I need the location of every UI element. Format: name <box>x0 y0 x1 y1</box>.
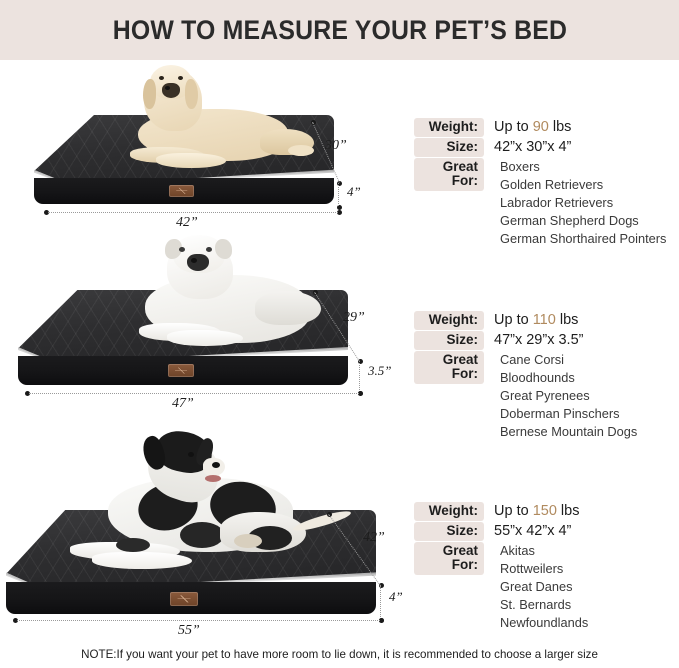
dim-label-height-1: 4” <box>347 184 361 200</box>
breed-item: Great Danes <box>500 580 573 593</box>
great-for-label-2: Great For: <box>414 351 484 384</box>
weight-label-3: Weight: <box>414 502 484 521</box>
breed-item: Labrador Retrievers <box>500 196 613 209</box>
dim-label-height-3: 4” <box>389 589 403 605</box>
size-label-3: Size: <box>414 522 484 541</box>
weight-label-1: Weight: <box>414 118 484 137</box>
weight-value-1: Up to 90 lbs <box>494 120 571 135</box>
breed-item: Doberman Pinschers <box>500 407 620 420</box>
breed-item: St. Bernards <box>500 598 571 611</box>
brand-logo-patch-3 <box>170 592 198 606</box>
breed-item: Bloodhounds <box>500 371 575 384</box>
dim-label-length-1: 42” <box>176 215 198 231</box>
weight-label-2: Weight: <box>414 311 484 330</box>
breed-item: Akitas <box>500 544 535 557</box>
dim-label-length-2: 47” <box>172 396 194 412</box>
size-value-1: 42”x 30”x 4” <box>494 140 571 155</box>
size-label-1: Size: <box>414 138 484 157</box>
weight-number-1: 90 <box>533 119 549 135</box>
dog-image-3 <box>20 430 340 590</box>
great-for-label-3: Great For: <box>414 542 484 575</box>
breed-item: Rottweilers <box>500 562 563 575</box>
dim-label-length-3: 55” <box>178 623 200 639</box>
page-header: HOW TO MEASURE YOUR PET’S BED <box>0 0 679 60</box>
breed-item: Great Pyrenees <box>500 389 590 402</box>
brand-logo-patch-1 <box>169 185 194 197</box>
dim-label-width-2: 29” <box>343 310 365 326</box>
size-value-2: 47”x 29”x 3.5” <box>494 333 583 348</box>
dim-label-height-2: 3.5” <box>368 363 391 379</box>
breed-item: Newfoundlands <box>500 616 588 629</box>
dim-label-width-3: 42” <box>363 530 385 546</box>
weight-number-3: 150 <box>533 503 557 519</box>
brand-logo-patch-2 <box>168 364 194 377</box>
breed-item: Cane Corsi <box>500 353 564 366</box>
weight-value-2: Up to 110 lbs <box>494 313 578 328</box>
breed-item: Boxers <box>500 160 540 173</box>
breed-item: German Shepherd Dogs <box>500 214 639 227</box>
page-title: HOW TO MEASURE YOUR PET’S BED <box>112 15 566 46</box>
dog-image-2 <box>115 235 325 355</box>
size-label-2: Size: <box>414 331 484 350</box>
bed-size-section-2: 29” 3.5” 47” Weight: Up to 110 lbs Size:… <box>0 235 679 430</box>
weight-value-3: Up to 150 lbs <box>494 504 579 519</box>
great-for-label-1: Great For: <box>414 158 484 191</box>
weight-number-2: 110 <box>533 312 556 328</box>
bed-size-section-1: 30” 4” 42” Weight: Up to 90 lbs Size: 42… <box>0 60 679 235</box>
dog-image-1 <box>110 67 310 172</box>
breed-item: Golden Retrievers <box>500 178 603 191</box>
size-value-3: 55”x 42”x 4” <box>494 524 571 539</box>
bed-size-section-3: 42” 4” 55” Weight: Up to 150 lbs Size: 5… <box>0 430 679 642</box>
dim-label-width-1: 30” <box>325 138 347 154</box>
footer-note: NOTE:If you want your pet to have more r… <box>0 648 679 661</box>
